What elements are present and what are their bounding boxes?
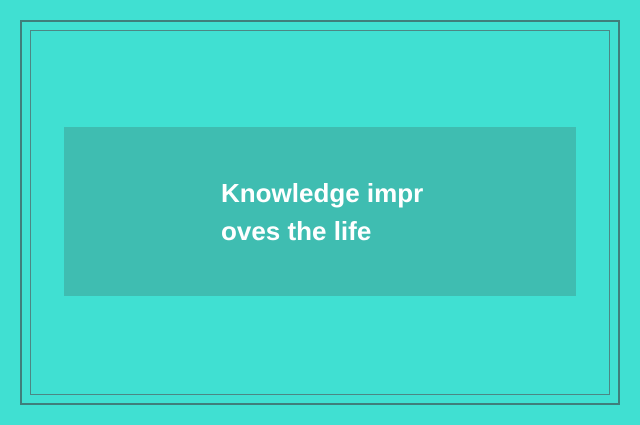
content-panel: Knowledge impr oves the life xyxy=(64,127,576,296)
poster-canvas: Knowledge impr oves the life xyxy=(0,0,640,425)
headline-text: Knowledge impr oves the life xyxy=(64,174,576,250)
